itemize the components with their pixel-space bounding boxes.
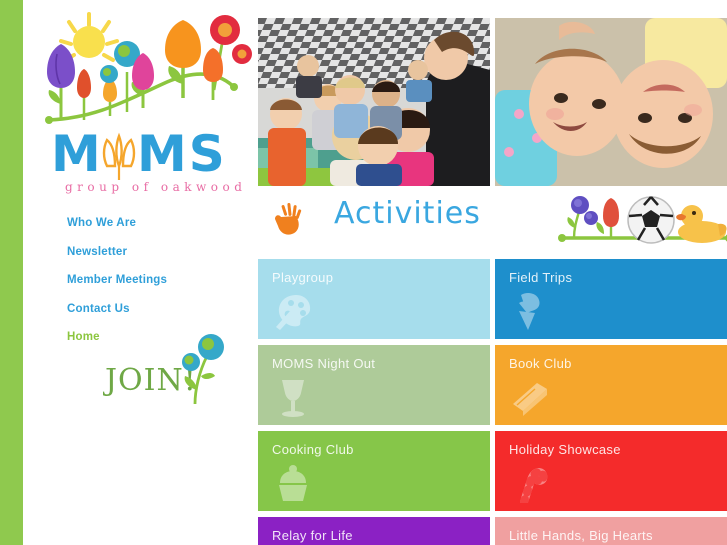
page-root: M MS group of oakwood Who We Are Newslet… <box>0 0 727 545</box>
activity-tile-moms-night-out[interactable]: MOMS Night Out <box>258 345 490 425</box>
nav-item-newsletter[interactable]: Newsletter <box>67 245 257 259</box>
flower-purple <box>47 44 75 118</box>
svg-text:M: M <box>51 125 103 183</box>
cupcake-icon <box>274 463 312 503</box>
activities-grid: Playgroup Field Trips <box>258 259 727 545</box>
activity-row: MOMS Night Out Book Club <box>258 345 727 425</box>
candy-cane-icon <box>511 463 549 503</box>
header-photo-row <box>258 18 727 186</box>
join-label: JOIN! <box>103 363 197 398</box>
activity-label: Holiday Showcase <box>509 442 621 457</box>
flower-orange-big <box>165 20 201 98</box>
activity-label: Playgroup <box>272 270 333 285</box>
activities-banner: Activities <box>258 192 727 254</box>
paint-palette-icon <box>274 291 312 331</box>
activity-tile-field-trips[interactable]: Field Trips <box>495 259 727 339</box>
activity-tile-holiday-showcase[interactable]: Holiday Showcase <box>495 431 727 511</box>
activity-tile-little-hands-big-hearts[interactable]: Little Hands, Big Hearts <box>495 517 727 545</box>
wine-glass-icon <box>274 377 312 417</box>
handprint-icon <box>270 202 306 238</box>
activity-row: Relay for Life Little Hands, Big Hearts <box>258 517 727 545</box>
header-photo-playgroup <box>258 18 490 186</box>
activity-row: Cooking Club Holiday Showcase <box>258 431 727 511</box>
left-edge-stripe <box>0 0 23 545</box>
sidebar: M MS group of oakwood Who We Are Newslet… <box>23 0 258 545</box>
svg-text:MS: MS <box>137 125 227 183</box>
activity-row: Playgroup Field Trips <box>258 259 727 339</box>
activity-label: Field Trips <box>509 270 572 285</box>
banner-title: Activities <box>334 196 481 231</box>
activity-tile-playgroup[interactable]: Playgroup <box>258 259 490 339</box>
activity-label: Relay for Life <box>272 528 353 543</box>
purple-flower-icon <box>567 196 598 238</box>
activity-tile-relay-for-life[interactable]: Relay for Life <box>258 517 490 545</box>
banner-decoration <box>558 194 727 246</box>
nav-item-contact-us[interactable]: Contact Us <box>67 302 257 316</box>
activity-label: MOMS Night Out <box>272 356 375 371</box>
nav-item-who-we-are[interactable]: Who We Are <box>67 216 257 230</box>
activity-tile-book-club[interactable]: Book Club <box>495 345 727 425</box>
header-photo-babies <box>495 18 727 186</box>
activity-label: Book Club <box>509 356 572 371</box>
activity-label: Little Hands, Big Hearts <box>509 528 653 543</box>
nav-item-member-meetings[interactable]: Member Meetings <box>67 273 257 287</box>
join-button[interactable]: JOIN! <box>103 332 233 412</box>
soccer-ball-icon <box>628 197 674 243</box>
svg-text:group of oakwood: group of oakwood <box>65 180 246 194</box>
ice-cream-cone-icon <box>511 291 549 331</box>
activity-tile-cooking-club[interactable]: Cooking Club <box>258 431 490 511</box>
site-logo[interactable]: M MS group of oakwood <box>37 8 255 198</box>
main-content: Activities <box>258 0 727 545</box>
rubber-duck-icon <box>676 205 726 243</box>
tulip-icon <box>596 198 619 238</box>
flower-orange-right <box>203 48 223 100</box>
activity-label: Cooking Club <box>272 442 354 457</box>
logo-wordmark: M MS group of oakwood <box>51 125 246 194</box>
book-icon <box>511 377 549 417</box>
